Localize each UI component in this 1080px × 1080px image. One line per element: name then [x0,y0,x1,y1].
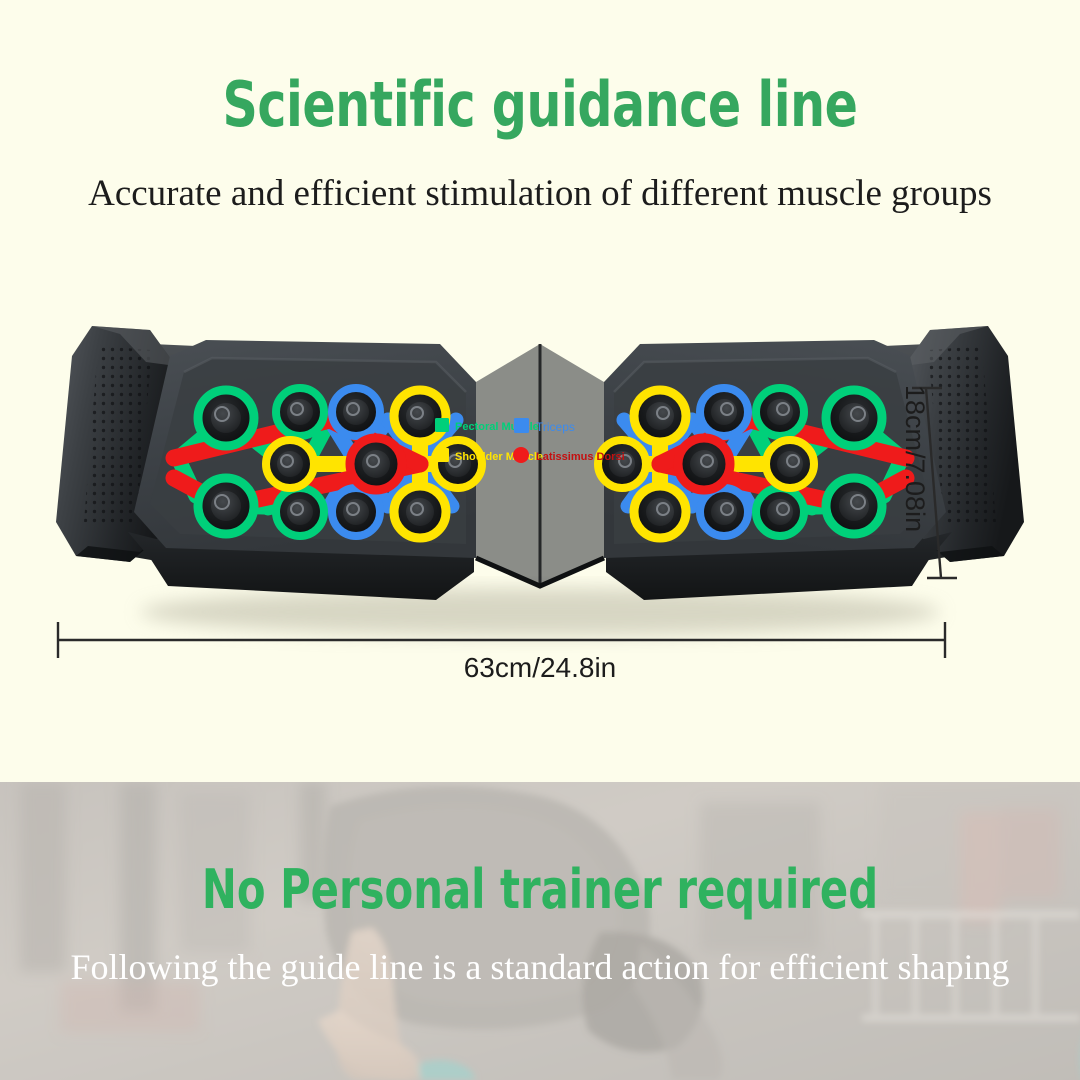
socket-right-3[interactable] [756,388,804,436]
legend-swatch-pectoral [435,418,449,432]
socket-right-4[interactable] [756,488,804,536]
page-title: Scientific guidance line [65,68,1015,141]
socket-left-9[interactable] [394,486,446,538]
legend-label-shoulder: Shoulder Muscle [455,451,543,463]
photo-overlay-veil [0,782,1080,1080]
socket-left-center-red[interactable] [350,438,402,490]
bottom-title: No Personal trainer required [76,858,1005,921]
legend-swatch-triceps [514,418,529,433]
socket-right-5[interactable] [766,440,814,488]
product-marketing-image: Scientific guidance line Accurate and ef… [0,0,1080,1080]
socket-left-8[interactable] [394,390,446,442]
legend-item-triceps: Triceps [514,418,575,434]
socket-right-6[interactable] [700,388,748,436]
page-subtitle: Accurate and efficient stimulation of di… [0,172,1080,215]
bottom-panel: No Personal trainer required Following t… [0,782,1080,1080]
socket-left-4[interactable] [276,488,324,536]
board-drop-shadow [140,588,940,636]
legend-label-triceps: Triceps [536,420,575,434]
socket-right-1[interactable] [826,390,882,446]
socket-left-7[interactable] [332,488,380,536]
socket-right-7[interactable] [700,488,748,536]
socket-left-1[interactable] [198,390,254,446]
socket-left-10[interactable] [434,440,482,488]
socket-right-10[interactable] [598,440,646,488]
bottom-subtitle: Following the guide line is a standard a… [0,946,1080,988]
legend-swatch-shoulder [435,448,449,462]
product-image: Pectoral Muscle Shoulder Muscle Triceps … [0,300,1080,660]
socket-right-8[interactable] [634,390,686,442]
push-up-board-illustration: Pectoral Muscle Shoulder Muscle Triceps … [0,300,1080,660]
socket-left-3[interactable] [276,388,324,436]
legend-label-latissimus: Latissimus Dorsi [536,451,625,463]
socket-right-9[interactable] [634,486,686,538]
socket-right-2[interactable] [826,478,882,534]
socket-left-5[interactable] [266,440,314,488]
top-panel: Scientific guidance line Accurate and ef… [0,0,1080,782]
socket-right-center-red[interactable] [678,438,730,490]
socket-left-2[interactable] [198,478,254,534]
socket-left-6[interactable] [332,388,380,436]
board-hinge [476,344,604,586]
legend-swatch-latissimus [513,447,529,463]
